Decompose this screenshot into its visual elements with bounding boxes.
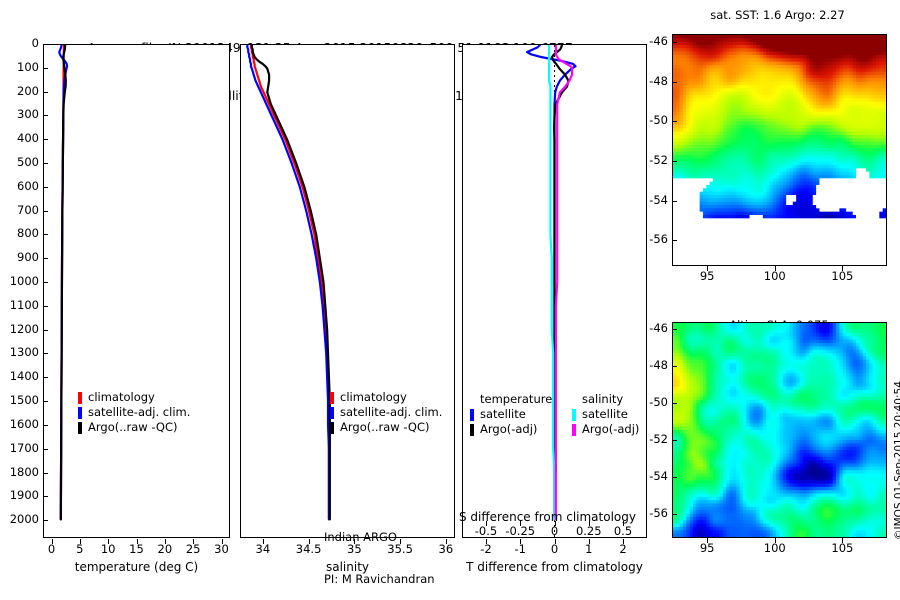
axis-tick-label: 800 — [0, 226, 39, 240]
argo-program-label: Indian ARGO — [324, 530, 435, 544]
axis-tick-label: 600 — [0, 179, 39, 193]
legend-color-swatch — [572, 409, 576, 421]
legend-item: climatology — [330, 390, 442, 405]
axis-tick-mark — [43, 139, 48, 140]
axis-tick-label: 2000 — [0, 512, 39, 526]
difference-profile-plot — [463, 45, 646, 537]
axis-tick-mark — [43, 473, 48, 474]
axis-tick-label: -56 — [632, 232, 668, 246]
legend-item: satellite — [572, 407, 639, 422]
temperature-legend: climatologysatellite-adj. clim.Argo(..ra… — [78, 390, 190, 435]
axis-tick-label: 1000 — [0, 274, 39, 288]
legend-item: climatology — [78, 390, 190, 405]
axis-tick-mark — [672, 366, 677, 367]
legend-item: satellite-adj. clim. — [330, 405, 442, 420]
axis-tick-mark — [672, 82, 677, 83]
axis-tick-mark — [43, 44, 48, 45]
salinity-legend: climatologysatellite-adj. clim.Argo(..ra… — [330, 390, 442, 435]
axis-tick-mark — [43, 68, 48, 69]
salinity-panel-note: Indian ARGO PI: M Ravichandran — [324, 502, 435, 600]
legend-color-swatch — [470, 409, 474, 421]
axis-tick-mark — [43, 401, 48, 402]
sst-map-panel — [672, 34, 887, 266]
axis-tick-mark — [446, 539, 447, 544]
axis-tick-mark — [707, 266, 708, 271]
axis-tick-label: 1300 — [0, 345, 39, 359]
copyright-label: ©IMOS 01-Sep-2015 20:40:54 — [893, 381, 900, 540]
axis-tick-label: 0.5 — [593, 524, 653, 538]
legend-color-swatch — [330, 407, 334, 419]
axis-tick-label: 1500 — [0, 393, 39, 407]
argo-pi-label: PI: M Ravichandran — [324, 572, 435, 586]
axis-tick-mark — [623, 539, 624, 544]
axis-tick-label: 2 — [593, 542, 653, 556]
axis-tick-label: 100 — [0, 60, 39, 74]
axis-tick-mark — [486, 539, 487, 544]
difference-legend-temperature: temperature satelliteArgo(-adj) — [470, 392, 552, 437]
axis-tick-mark — [43, 449, 48, 450]
legend-color-swatch — [470, 424, 474, 436]
axis-tick-label: 1600 — [0, 417, 39, 431]
sst-map-title: sat. SST: 1.6 Argo: 2.27 — [670, 8, 885, 22]
axis-tick-label: -52 — [632, 153, 668, 167]
axis-tick-mark — [43, 187, 48, 188]
salinity-profile-plot — [241, 45, 454, 537]
axis-tick-label: 300 — [0, 107, 39, 121]
axis-tick-label: 700 — [0, 203, 39, 217]
axis-tick-mark — [672, 240, 677, 241]
axis-tick-label: 95 — [677, 269, 737, 283]
axis-tick-label: -48 — [632, 358, 668, 372]
legend-item: Argo(-adj) — [572, 422, 639, 437]
legend-label: climatology — [340, 390, 407, 405]
axis-tick-mark — [842, 266, 843, 271]
legend-label: satellite — [480, 407, 526, 422]
axis-tick-mark — [43, 353, 48, 354]
axis-tick-mark — [775, 266, 776, 271]
legend-color-swatch — [78, 392, 82, 404]
axis-tick-mark — [309, 539, 310, 544]
axis-tick-label: 1200 — [0, 322, 39, 336]
difference-legend-salinity-heading: salinity — [572, 392, 639, 407]
axis-tick-mark — [589, 539, 590, 544]
legend-item: satellite — [470, 407, 552, 422]
axis-tick-label: -50 — [632, 113, 668, 127]
axis-tick-mark — [672, 440, 677, 441]
axis-tick-label: 1900 — [0, 488, 39, 502]
sla-heatmap — [673, 323, 886, 537]
temperature-profile-panel — [43, 44, 230, 538]
axis-tick-mark — [672, 42, 677, 43]
axis-tick-label: -52 — [632, 432, 668, 446]
axis-tick-mark — [775, 538, 776, 543]
axis-tick-mark — [43, 330, 48, 331]
axis-tick-label: -48 — [632, 74, 668, 88]
axis-tick-mark — [672, 161, 677, 162]
axis-tick-label: -46 — [632, 34, 668, 48]
axis-tick-label: 100 — [745, 541, 805, 555]
axis-tick-mark — [707, 538, 708, 543]
axis-tick-mark — [43, 282, 48, 283]
axis-tick-label: 95 — [677, 541, 737, 555]
legend-color-swatch — [330, 422, 334, 434]
axis-tick-label: 1100 — [0, 298, 39, 312]
axis-tick-mark — [672, 514, 677, 515]
legend-label: satellite-adj. clim. — [88, 405, 190, 420]
axis-tick-mark — [43, 163, 48, 164]
axis-tick-mark — [43, 92, 48, 93]
axis-tick-mark — [672, 201, 677, 202]
legend-label: Argo(..raw -QC) — [340, 420, 430, 435]
sst-heatmap — [673, 35, 886, 265]
axis-tick-mark — [43, 425, 48, 426]
axis-tick-mark — [672, 121, 677, 122]
difference-profile-panel — [462, 44, 647, 538]
sla-map-panel — [672, 322, 887, 538]
legend-label: Argo(..raw -QC) — [88, 420, 178, 435]
legend-item: Argo(-adj) — [470, 422, 552, 437]
temperature-profile-plot — [44, 45, 229, 537]
legend-color-swatch — [78, 422, 82, 434]
axis-tick-mark — [43, 234, 48, 235]
axis-tick-label: 1700 — [0, 441, 39, 455]
axis-tick-mark — [672, 403, 677, 404]
axis-tick-label: 1400 — [0, 369, 39, 383]
legend-label: Argo(-adj) — [480, 422, 537, 437]
axis-tick-label: -54 — [632, 469, 668, 483]
legend-color-swatch — [78, 407, 82, 419]
legend-item: Argo(..raw -QC) — [78, 420, 190, 435]
axis-tick-mark — [43, 496, 48, 497]
axis-tick-label: 100 — [745, 269, 805, 283]
temperature-x-axis-title: temperature (deg C) — [43, 560, 230, 574]
axis-tick-mark — [43, 115, 48, 116]
axis-tick-label: 1800 — [0, 465, 39, 479]
axis-tick-mark — [555, 539, 556, 544]
axis-tick-label: 0 — [0, 36, 39, 50]
legend-color-swatch — [572, 424, 576, 436]
axis-tick-mark — [520, 539, 521, 544]
legend-label: Argo(-adj) — [582, 422, 639, 437]
axis-tick-label: 105 — [812, 541, 872, 555]
axis-tick-label: -54 — [632, 193, 668, 207]
legend-label: satellite-adj. clim. — [340, 405, 442, 420]
axis-tick-mark — [43, 211, 48, 212]
difference-legend-salinity: salinity satelliteArgo(-adj) — [572, 392, 639, 437]
axis-tick-label: 900 — [0, 250, 39, 264]
axis-tick-mark — [43, 377, 48, 378]
axis-tick-mark — [672, 477, 677, 478]
axis-tick-mark — [842, 538, 843, 543]
legend-label: climatology — [88, 390, 155, 405]
axis-tick-mark — [43, 520, 48, 521]
difference-s-axis-title: S difference from climatology — [459, 510, 649, 524]
legend-label: satellite — [582, 407, 628, 422]
axis-tick-mark — [43, 306, 48, 307]
difference-legend-temperature-heading: temperature — [470, 392, 552, 407]
axis-tick-label: -50 — [632, 395, 668, 409]
axis-tick-label: -46 — [632, 321, 668, 335]
axis-tick-mark — [43, 258, 48, 259]
difference-t-axis-title: T difference from climatology — [462, 560, 647, 574]
axis-tick-label: -56 — [632, 506, 668, 520]
axis-tick-label: 400 — [0, 131, 39, 145]
salinity-profile-panel — [240, 44, 455, 538]
axis-tick-label: 105 — [812, 269, 872, 283]
axis-tick-label: 500 — [0, 155, 39, 169]
axis-tick-mark — [263, 539, 264, 544]
axis-tick-mark — [672, 329, 677, 330]
legend-item: satellite-adj. clim. — [78, 405, 190, 420]
legend-item: Argo(..raw -QC) — [330, 420, 442, 435]
axis-tick-mark — [222, 539, 223, 544]
legend-color-swatch — [330, 392, 334, 404]
axis-tick-label: 200 — [0, 84, 39, 98]
